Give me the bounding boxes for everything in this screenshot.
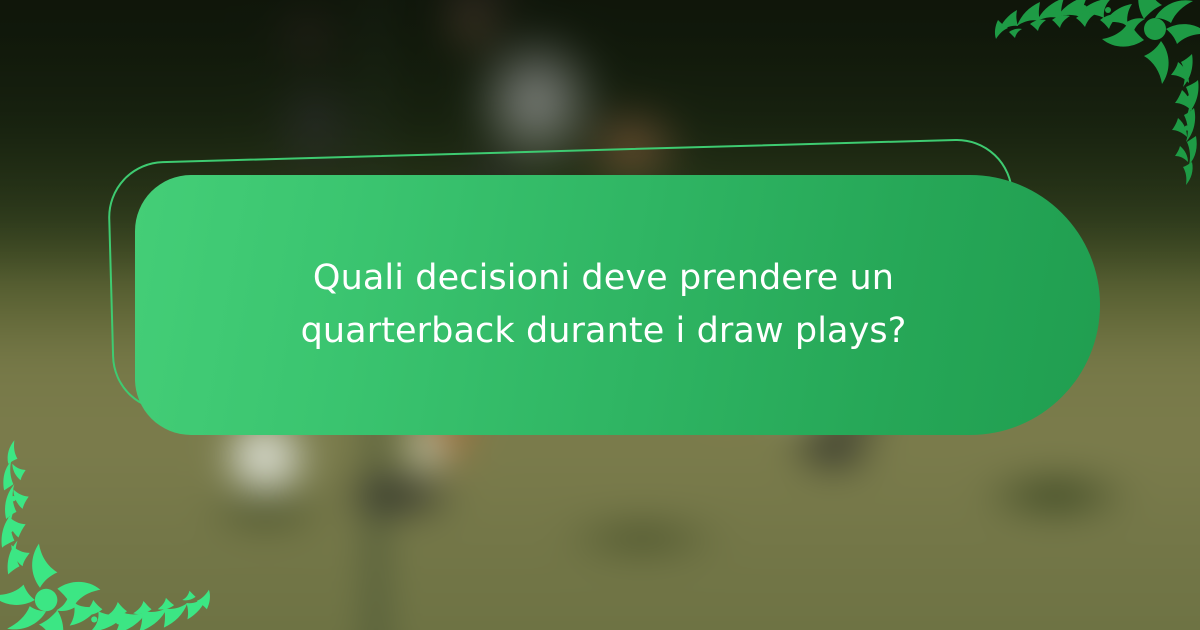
question-text: Quali decisioni deve prendere un quarter…	[227, 252, 980, 358]
quote-card-banner: Quali decisioni deve prendere un quarter…	[0, 0, 1200, 630]
question-card: Quali decisioni deve prendere un quarter…	[135, 175, 1100, 435]
